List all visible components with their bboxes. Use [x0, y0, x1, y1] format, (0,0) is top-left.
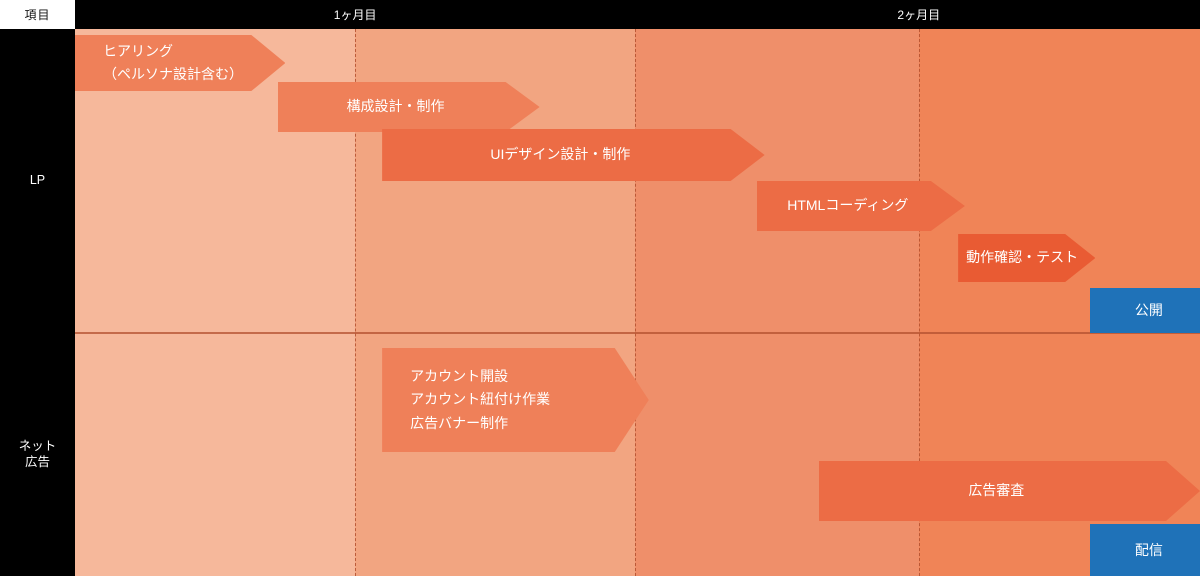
month-label-1-text: 1ヶ月目: [334, 6, 377, 23]
timeline-header: 1ヶ月目 2ヶ月目: [75, 0, 1200, 29]
task-bar-label: 動作確認・テスト: [966, 246, 1065, 269]
task-bar-label-line: 広告審査: [827, 479, 1166, 502]
month-label-2: 2ヶ月目: [806, 0, 1031, 29]
month-label-2-text: 2ヶ月目: [897, 6, 940, 23]
row-label-net-ad-line2: 広告: [25, 455, 50, 469]
task-bar[interactable]: HTMLコーディング: [757, 181, 965, 231]
task-bar-label-line: UIデザイン設計・制作: [390, 143, 731, 166]
gantt-schedule-chart: 1ヶ月目 2ヶ月目 項目 LP ネット 広告 ヒアリング（ペルソナ設計含む）構成…: [0, 0, 1200, 576]
task-bar-label-line: HTMLコーディング: [765, 194, 931, 217]
task-bar-label-line: 公開: [1098, 299, 1200, 322]
task-bar-label: 配信: [1098, 539, 1200, 562]
task-bar-label-line: ヒアリング: [103, 40, 251, 63]
row-label-net-ad: ネット 広告: [0, 333, 75, 576]
gridline-2: [635, 29, 636, 576]
task-bar-label-line: アカウント紐付け作業: [410, 388, 615, 411]
task-bar-label: アカウント開設アカウント紐付け作業広告バナー制作: [410, 365, 615, 434]
row-label-column: 項目 LP ネット 広告: [0, 0, 75, 576]
task-bar[interactable]: アカウント開設アカウント紐付け作業広告バナー制作: [382, 348, 649, 452]
task-bar-label: 広告審査: [827, 479, 1166, 502]
task-bar-label-line: 広告バナー制作: [410, 412, 615, 435]
task-bar-label: 公開: [1098, 299, 1200, 322]
task-bar-label: ヒアリング（ペルソナ設計含む）: [103, 40, 251, 86]
row-label-net-ad-text: ネット 広告: [19, 439, 57, 470]
item-column-header: 項目: [0, 0, 75, 29]
row-label-lp-text: LP: [30, 173, 45, 189]
chart-body: ヒアリング（ペルソナ設計含む）構成設計・制作UIデザイン設計・制作HTMLコーデ…: [75, 29, 1200, 576]
row-divider: [75, 332, 1200, 334]
task-bar-label-line: 構成設計・制作: [286, 95, 506, 118]
task-bar[interactable]: 配信: [1090, 524, 1200, 576]
task-bar[interactable]: 公開: [1090, 288, 1200, 333]
month-label-1: 1ヶ月目: [243, 0, 468, 29]
task-bar[interactable]: UIデザイン設計・制作: [382, 129, 765, 181]
task-bar-label-line: 動作確認・テスト: [966, 246, 1065, 269]
task-bar-label: HTMLコーディング: [765, 194, 931, 217]
task-bar[interactable]: 構成設計・制作: [278, 82, 540, 132]
task-bar-label: 構成設計・制作: [286, 95, 506, 118]
item-column-header-text: 項目: [24, 6, 50, 23]
task-bar-label-line: （ペルソナ設計含む）: [103, 63, 251, 86]
row-label-net-ad-line1: ネット: [19, 439, 57, 453]
row-label-lp: LP: [0, 29, 75, 332]
task-bar-label: UIデザイン設計・制作: [390, 143, 731, 166]
task-bar[interactable]: ヒアリング（ペルソナ設計含む）: [75, 35, 285, 91]
task-bar-label-line: アカウント開設: [410, 365, 615, 388]
task-bar[interactable]: 広告審査: [819, 461, 1200, 521]
task-bar-label-line: 配信: [1098, 539, 1200, 562]
